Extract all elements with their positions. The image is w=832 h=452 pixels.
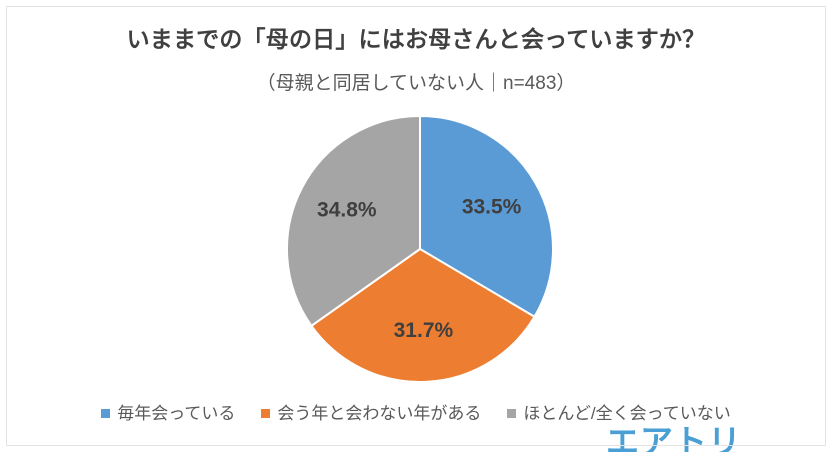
legend-swatch-icon <box>507 409 516 418</box>
chart-legend: 毎年会っている 会う年と会わない年がある ほとんど/全く会っていない <box>0 405 832 422</box>
legend-item-label: ほとんど/全く会っていない <box>523 405 730 422</box>
chart-canvas: いままでの「母の日」にはお母さんと会っていますか？ （母親と同居していない人｜n… <box>0 0 832 452</box>
legend-item-rarely-never[interactable]: ほとんど/全く会っていない <box>507 405 730 422</box>
pie-slices <box>287 116 553 382</box>
legend-swatch-icon <box>101 409 110 418</box>
plot-area: 33.5% 31.7% 34.8% エアトリ <box>0 100 832 390</box>
legend-item-every-year[interactable]: 毎年会っている <box>101 405 235 422</box>
pie-slice-label-some-years: 31.7% <box>394 319 454 342</box>
legend-item-label: 会う年と会わない年がある <box>277 405 481 422</box>
chart-subtitle: （母親と同居していない人｜n=483） <box>0 68 832 95</box>
legend-item-some-years[interactable]: 会う年と会わない年がある <box>261 405 481 422</box>
pie-chart: 33.5% 31.7% 34.8% <box>285 114 555 384</box>
chart-title: いままでの「母の日」にはお母さんと会っていますか？ <box>0 20 832 54</box>
pie-slice-label-every-year: 33.5% <box>462 196 522 219</box>
pie-slice-label-rarely-never: 34.8% <box>317 199 377 222</box>
legend-swatch-icon <box>261 409 270 418</box>
legend-item-label: 毎年会っている <box>117 405 235 422</box>
